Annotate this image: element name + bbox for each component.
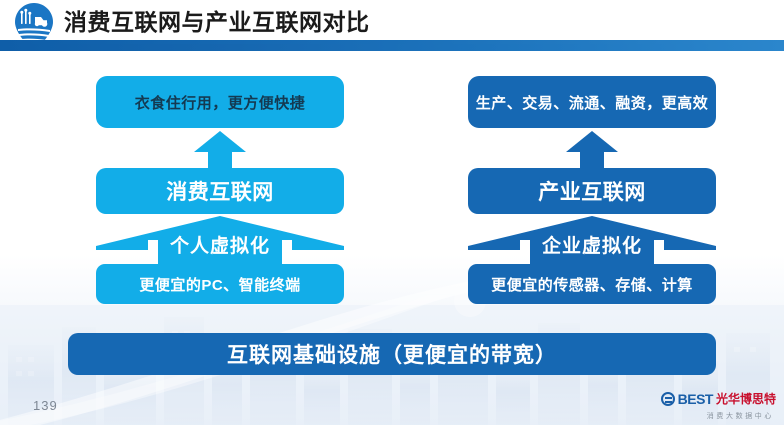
- page-number: 139: [33, 398, 58, 413]
- industrial-enabler-label: 企业虚拟化: [468, 236, 716, 258]
- infrastructure-foundation-bar: 互联网基础设施（更便宜的带宽）: [68, 333, 716, 375]
- industrial-up-arrow: [468, 128, 716, 168]
- industrial-base-box: 更便宜的传感器、存储、计算: [468, 264, 716, 304]
- industrial-base-label: 更便宜的传感器、存储、计算: [491, 274, 693, 295]
- page-title: 消费互联网与产业互联网对比: [64, 6, 370, 38]
- slide-header: 消费互联网与产业互联网对比: [0, 0, 784, 48]
- industrial-internet-column: 生产、交易、流通、融资，更高效 产业互联网 企业虚拟化 更便宜的传感器、存储、计…: [468, 76, 716, 304]
- consumer-enabler-label: 个人虚拟化: [96, 236, 344, 258]
- industrial-core-box: 产业互联网: [468, 168, 716, 214]
- header-divider: [0, 44, 784, 51]
- industrial-core-label: 产业互联网: [538, 176, 646, 206]
- best-logo-text-cn: 光华博思特: [716, 392, 776, 406]
- consumer-core-box: 消费互联网: [96, 168, 344, 214]
- consumer-core-label: 消费互联网: [166, 176, 274, 206]
- consumer-outcome-label: 衣食住行用，更方便快捷: [135, 92, 306, 113]
- best-logo-subtitle: 消费大数据中心: [654, 411, 776, 421]
- best-circle-icon: [661, 392, 675, 406]
- industrial-outcome-label: 生产、交易、流通、融资，更高效: [476, 92, 709, 113]
- infrastructure-label: 互联网基础设施（更便宜的带宽）: [227, 339, 557, 369]
- slide-canvas: 消费互联网与产业互联网对比 衣食住行用，更方便快捷 消费互联网 个人虚拟化 更便…: [0, 0, 784, 425]
- consumer-base-box: 更便宜的PC、智能终端: [96, 264, 344, 304]
- industrial-enabler-arrow: 企业虚拟化: [468, 216, 716, 264]
- consumer-internet-column: 衣食住行用，更方便快捷 消费互联网 个人虚拟化 更便宜的PC、智能终端: [96, 76, 344, 304]
- consumer-base-label: 更便宜的PC、智能终端: [139, 274, 300, 295]
- consumer-enabler-arrow: 个人虚拟化: [96, 216, 344, 264]
- consumer-up-arrow: [96, 128, 344, 168]
- best-brand-logo: BEST 光华博思特 消费大数据中心: [654, 390, 776, 422]
- consumer-outcome-box: 衣食住行用，更方便快捷: [96, 76, 344, 128]
- best-logo-text: BEST: [678, 392, 713, 406]
- industrial-outcome-box: 生产、交易、流通、融资，更高效: [468, 76, 716, 128]
